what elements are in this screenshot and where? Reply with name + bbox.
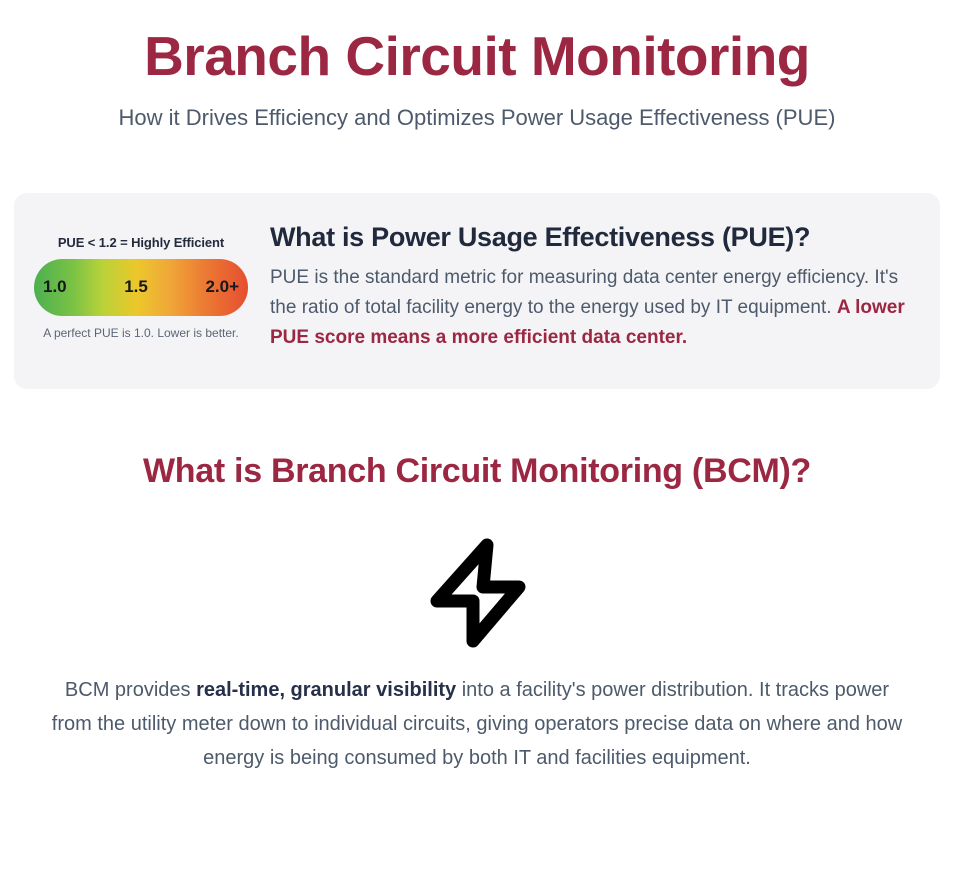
bcm-body-paragraph: BCM provides real-time, granular visibil… (51, 673, 903, 776)
pue-gauge-block: PUE < 1.2 = Highly Efficient 1.0 1.5 2.0… (34, 219, 248, 340)
page-subtitle: How it Drives Efficiency and Optimizes P… (72, 102, 882, 133)
pue-info-card: PUE < 1.2 = Highly Efficient 1.0 1.5 2.0… (14, 193, 940, 389)
pue-gauge-bar: 1.0 1.5 2.0+ (34, 259, 248, 316)
pue-text-block: What is Power Usage Effectiveness (PUE)?… (270, 219, 918, 353)
pue-gauge-bottom-caption: A perfect PUE is 1.0. Lower is better. (34, 326, 248, 340)
page-header: Branch Circuit Monitoring How it Drives … (14, 0, 940, 133)
bcm-body-emphasis: real-time, granular visibility (196, 679, 456, 701)
pue-gauge-tick-mid: 1.5 (124, 277, 148, 297)
lightning-bolt-icon (425, 537, 529, 649)
page-title: Branch Circuit Monitoring (14, 26, 940, 88)
pue-gauge-tick-low: 1.0 (43, 277, 67, 297)
bcm-heading: What is Branch Circuit Monitoring (BCM)? (14, 451, 940, 492)
pue-body-paragraph: PUE is the standard metric for measuring… (270, 263, 918, 353)
pue-body-lead: PUE is the standard metric for measuring… (270, 267, 898, 318)
pue-heading: What is Power Usage Effectiveness (PUE)? (270, 221, 918, 253)
pue-gauge-tick-high: 2.0+ (205, 277, 239, 297)
bcm-section: What is Branch Circuit Monitoring (BCM)?… (14, 451, 940, 776)
page-root: Branch Circuit Monitoring How it Drives … (0, 0, 954, 880)
bcm-body-part1: BCM provides (65, 679, 196, 701)
bcm-icon-wrap (14, 537, 940, 649)
pue-gauge-top-caption: PUE < 1.2 = Highly Efficient (34, 235, 248, 250)
